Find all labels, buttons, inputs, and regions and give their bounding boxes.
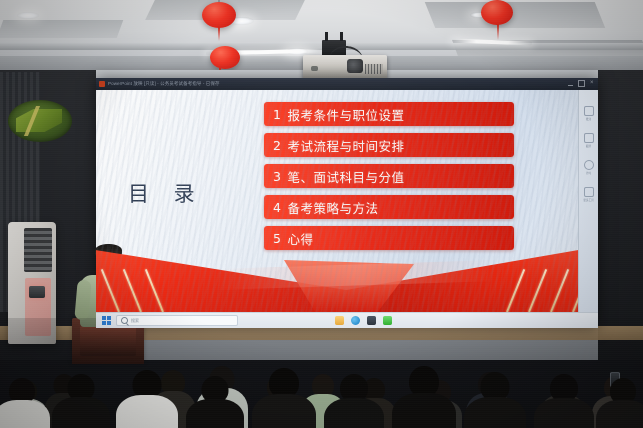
- capture-icon: [584, 133, 594, 143]
- audience-member: [186, 376, 244, 428]
- edge-browser-icon[interactable]: [351, 316, 360, 325]
- window-controls: ×: [568, 80, 595, 87]
- sidebar-tool-annotate[interactable]: 批注: [583, 106, 595, 121]
- window-title: PowerPoint 放映 [只读] - 公务员考试备考指导 - 已保存: [108, 81, 220, 87]
- audience-member: [52, 374, 110, 428]
- wechat-icon[interactable]: [383, 316, 392, 325]
- close-icon[interactable]: ×: [590, 81, 595, 86]
- toc-item-3: 3 笔、面试科目与分值: [264, 164, 514, 188]
- toc-label: 备考策略与方法: [287, 198, 378, 217]
- slide-title: 目 录: [128, 178, 204, 208]
- audience-shoulders: [464, 397, 526, 428]
- app-icon[interactable]: [367, 316, 376, 325]
- lantern-tassel: [497, 24, 499, 40]
- audience-member: [116, 370, 178, 428]
- search-placeholder: 搜索: [131, 318, 139, 324]
- taskbar-app-icons: [335, 316, 392, 325]
- sidebar-tool-timer[interactable]: 计时: [583, 160, 595, 175]
- taskbar-search-input[interactable]: 搜索: [116, 315, 238, 326]
- lantern-body: [210, 46, 240, 69]
- lantern-body: [202, 2, 236, 28]
- audience-shoulders: [116, 395, 178, 428]
- table-of-contents-list: 1 报考条件与职位设置 2 考试流程与时间安排 3 笔、面试科目与分值 4 备考…: [264, 102, 514, 250]
- audience-member: [596, 378, 643, 428]
- annotate-icon: [584, 106, 594, 116]
- projector-lens-icon: [347, 59, 363, 73]
- toc-label: 笔、面试科目与分值: [287, 167, 404, 186]
- display-tool-sidebar[interactable]: 批注 截屏 计时 更多工具: [578, 90, 598, 312]
- start-button-icon[interactable]: [102, 316, 111, 325]
- toc-item-2: 2 考试流程与时间安排: [264, 133, 514, 157]
- ac-vent-grill: [24, 228, 52, 272]
- maximize-button[interactable]: [578, 80, 585, 87]
- organization-logo-icon: [8, 100, 72, 142]
- toc-number: 2: [273, 138, 281, 153]
- ceiling-panel: [0, 20, 123, 38]
- toc-label: 报考条件与职位设置: [287, 105, 404, 124]
- audience-shoulders: [252, 394, 316, 428]
- ac-display-screen: [29, 286, 45, 298]
- presentation-slide: 目 录 1 报考条件与职位设置 2 考试流程与时间安排 3 笔、面试科目与分值 …: [96, 90, 598, 312]
- sidebar-tool-label: 更多工具: [583, 198, 593, 202]
- audience-shoulders: [392, 393, 456, 428]
- projector-vents: [365, 64, 383, 74]
- toc-label: 心得: [287, 229, 313, 248]
- audience-shoulders: [0, 400, 50, 428]
- sidebar-tool-label: 批注: [586, 117, 591, 121]
- right-wall-dark-panel: [598, 70, 643, 360]
- toc-number: 5: [273, 231, 281, 246]
- toc-item-1: 1 报考条件与职位设置: [264, 102, 514, 126]
- sidebar-tool-label: 截屏: [586, 144, 591, 148]
- audience-shoulders: [324, 398, 384, 428]
- lantern-right: [476, 0, 520, 56]
- projection-screen: PowerPoint 放映 [只读] - 公务员考试备考指导 - 已保存 × 目…: [96, 78, 598, 328]
- audience-shoulders: [596, 400, 643, 428]
- powerpoint-titlebar[interactable]: PowerPoint 放映 [只读] - 公务员考试备考指导 - 已保存 ×: [96, 78, 598, 90]
- audience-member: [324, 374, 384, 428]
- timer-icon: [584, 160, 594, 170]
- toc-number: 4: [273, 200, 281, 215]
- audience: ARTSMAN: [0, 318, 643, 428]
- audience-member: [534, 374, 594, 428]
- toc-item-5: 5 心得: [264, 226, 514, 250]
- downlight: [17, 12, 39, 19]
- audience-shoulders: [52, 397, 110, 428]
- powerpoint-icon: [99, 81, 105, 87]
- audience-member: [0, 378, 50, 428]
- search-icon: [121, 317, 128, 324]
- audience-shoulders: [534, 398, 594, 428]
- sidebar-tool-more[interactable]: 更多工具: [583, 187, 595, 202]
- sidebar-tool-label: 计时: [586, 171, 591, 175]
- toc-item-4: 4 备考策略与方法: [264, 195, 514, 219]
- projector-knob: [311, 66, 318, 71]
- audience-member: [252, 368, 316, 428]
- minimize-button[interactable]: [568, 82, 573, 86]
- lecture-hall-photo: PowerPoint 放映 [只读] - 公务员考试备考指导 - 已保存 × 目…: [0, 0, 643, 428]
- audience-shoulders: [186, 399, 244, 428]
- toc-number: 3: [273, 169, 281, 184]
- more-icon: [584, 187, 594, 197]
- windows-taskbar[interactable]: 搜索: [96, 312, 598, 328]
- toc-label: 考试流程与时间安排: [287, 136, 404, 155]
- audience-member: [392, 366, 456, 428]
- file-explorer-icon[interactable]: [335, 316, 344, 325]
- lantern-body: [481, 0, 513, 25]
- toc-number: 1: [273, 107, 281, 122]
- audience-member: [464, 372, 526, 428]
- sidebar-tool-capture[interactable]: 截屏: [583, 133, 595, 148]
